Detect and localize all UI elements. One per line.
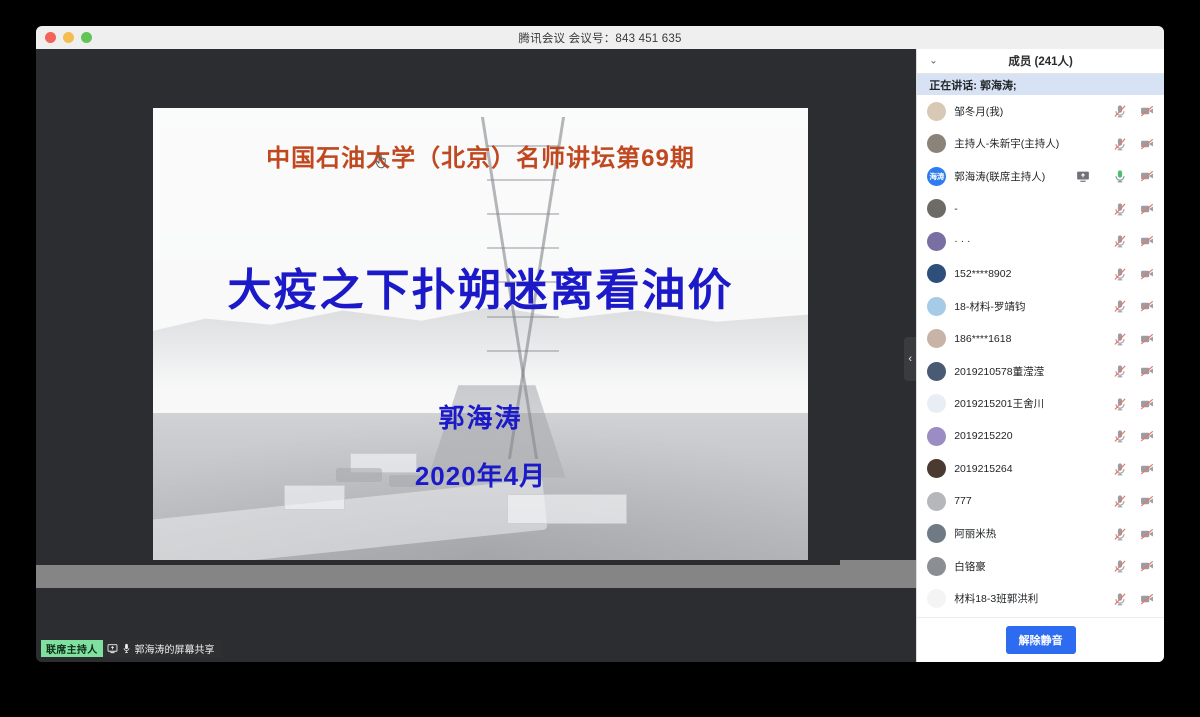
share-owner-label: 郭海涛的屏幕共享	[135, 641, 215, 656]
avatar	[927, 362, 946, 381]
participant-name: 186****1618	[954, 333, 1105, 345]
participant-name: · · ·	[954, 235, 1105, 247]
participant-row[interactable]: -	[917, 193, 1164, 226]
collapse-panel-handle[interactable]: ‹	[904, 337, 916, 381]
camera-off-icon[interactable]	[1140, 364, 1154, 378]
participant-status-icons	[1113, 397, 1154, 411]
participant-row[interactable]: 2019215220	[917, 420, 1164, 453]
camera-off-icon[interactable]	[1140, 234, 1154, 248]
participant-name: -	[954, 203, 1105, 215]
participant-status-icons	[1076, 169, 1154, 183]
participant-name: 材料18-3班郭洪利	[954, 591, 1105, 606]
avatar	[927, 297, 946, 316]
avatar-initials: 海涛	[927, 167, 946, 186]
window-body: 中国石油大学（北京）名师讲坛第69期 大疫之下扑朔迷离看油价 郭海涛 2020年…	[36, 49, 1164, 662]
participant-row[interactable]: 邹冬月(我)	[917, 95, 1164, 128]
participant-name: 阿丽米热	[954, 526, 1105, 541]
chevron-left-icon: ‹	[908, 354, 912, 365]
chevron-down-icon[interactable]: ⌄	[929, 56, 937, 67]
microphone-muted-icon[interactable]	[1113, 494, 1127, 508]
microphone-muted-icon[interactable]	[1113, 332, 1127, 346]
participant-row[interactable]: 777	[917, 485, 1164, 518]
meeting-window: 腾讯会议 会议号：843 451 635	[36, 26, 1164, 662]
zoom-button-icon[interactable]	[81, 32, 92, 43]
participant-status-icons	[1113, 267, 1154, 281]
window-title: 腾讯会议 会议号：843 451 635	[36, 30, 1164, 46]
participant-name: 郭海涛(联席主持人)	[954, 169, 1068, 184]
microphone-muted-icon[interactable]	[1113, 364, 1127, 378]
participant-row[interactable]: 阿丽米热	[917, 518, 1164, 551]
participant-row[interactable]: · · ·	[917, 225, 1164, 258]
participant-status-icons	[1113, 202, 1154, 216]
toolbar-notch	[36, 560, 840, 565]
participant-status-icons	[1113, 234, 1154, 248]
microphone-muted-icon[interactable]	[1113, 202, 1127, 216]
participant-name: 2019215264	[954, 463, 1105, 475]
avatar	[927, 199, 946, 218]
role-badge-label: 联席主持人	[41, 640, 103, 657]
microphone-muted-icon[interactable]	[1113, 462, 1127, 476]
slide-author-text: 郭海涛	[153, 398, 808, 435]
avatar	[927, 232, 946, 251]
participants-list[interactable]: 邹冬月(我)主持人-朱新宇(主持人)海涛郭海涛(联席主持人)-· · ·152*…	[917, 95, 1164, 617]
screen-sharing-indicator-icon	[1076, 169, 1090, 183]
avatar	[927, 459, 946, 478]
participant-status-icons	[1113, 462, 1154, 476]
camera-off-icon[interactable]	[1140, 332, 1154, 346]
avatar	[927, 492, 946, 511]
screen-share-badge: 联席主持人 郭海涛的屏幕共享	[41, 640, 222, 657]
microphone-muted-icon[interactable]	[1113, 397, 1127, 411]
camera-off-icon[interactable]	[1140, 137, 1154, 151]
share-info: 郭海涛的屏幕共享	[103, 640, 222, 657]
participant-status-icons	[1113, 137, 1154, 151]
screen: 腾讯会议 会议号：843 451 635	[0, 0, 1200, 717]
minimize-button-icon[interactable]	[63, 32, 74, 43]
slide-title-text: 大疫之下扑朔迷离看油价	[153, 254, 808, 318]
slide-background-photo	[153, 108, 808, 570]
participant-status-icons	[1113, 494, 1154, 508]
microphone-muted-icon[interactable]	[1113, 527, 1127, 541]
slide-date-text: 2020年4月	[153, 456, 808, 493]
participant-status-icons	[1113, 364, 1154, 378]
avatar	[927, 329, 946, 348]
participant-status-icons	[1113, 104, 1154, 118]
camera-off-icon[interactable]	[1140, 299, 1154, 313]
microphone-muted-icon[interactable]	[1113, 137, 1127, 151]
participant-name: 邹冬月(我)	[954, 104, 1105, 119]
slide-header-text: 中国石油大学（北京）名师讲坛第69期	[153, 138, 808, 173]
participants-panel-header: ⌄ 成员 (241人)	[917, 49, 1164, 74]
microphone-icon	[122, 643, 131, 654]
microphone-muted-icon[interactable]	[1113, 267, 1127, 281]
camera-off-icon[interactable]	[1140, 429, 1154, 443]
avatar	[927, 394, 946, 413]
traffic-lights	[45, 26, 92, 49]
participants-panel-footer: 解除静音	[917, 617, 1164, 662]
participant-status-icons	[1113, 527, 1154, 541]
camera-off-icon[interactable]	[1140, 462, 1154, 476]
shared-screen-stage: 中国石油大学（北京）名师讲坛第69期 大疫之下扑朔迷离看油价 郭海涛 2020年…	[36, 49, 916, 662]
participant-status-icons	[1113, 332, 1154, 346]
camera-off-icon[interactable]	[1140, 592, 1154, 606]
unmute-button[interactable]: 解除静音	[1006, 626, 1076, 654]
participant-row[interactable]: 主持人-朱新宇(主持人)	[917, 128, 1164, 161]
participant-status-icons	[1113, 299, 1154, 313]
participant-name: 152****8902	[954, 268, 1105, 280]
camera-off-icon[interactable]	[1140, 104, 1154, 118]
participant-name: 主持人-朱新宇(主持人)	[954, 136, 1105, 151]
participant-name: 2019210578董滢滢	[954, 364, 1105, 379]
avatar: 海涛	[927, 167, 946, 186]
participant-row[interactable]: 2019210578董滢滢	[917, 355, 1164, 388]
screen-share-icon	[107, 643, 118, 654]
now-speaking-banner: 正在讲话: 郭海涛;	[917, 74, 1164, 95]
camera-off-icon[interactable]	[1140, 527, 1154, 541]
participant-row[interactable]: 186****1618	[917, 323, 1164, 356]
participant-name: 777	[954, 495, 1105, 507]
avatar	[927, 264, 946, 283]
camera-off-icon[interactable]	[1140, 202, 1154, 216]
microphone-muted-icon[interactable]	[1113, 299, 1127, 313]
participant-status-icons	[1113, 559, 1154, 573]
avatar	[927, 524, 946, 543]
avatar	[927, 589, 946, 608]
participant-name: 白铬豪	[954, 559, 1105, 574]
camera-off-icon[interactable]	[1140, 494, 1154, 508]
camera-off-icon[interactable]	[1140, 559, 1154, 573]
participant-row[interactable]: 海涛郭海涛(联席主持人)	[917, 160, 1164, 193]
participant-row[interactable]: 152****8902	[917, 258, 1164, 291]
participant-name: 2019215201王舍川	[954, 396, 1105, 411]
participant-row[interactable]: 材料18-3班郭洪利	[917, 583, 1164, 616]
avatar	[927, 557, 946, 576]
close-button-icon[interactable]	[45, 32, 56, 43]
participant-row[interactable]: 2019215264	[917, 453, 1164, 486]
participant-status-icons	[1113, 592, 1154, 606]
avatar	[927, 134, 946, 153]
microphone-muted-icon[interactable]	[1113, 429, 1127, 443]
participants-panel: ⌄ 成员 (241人) 正在讲话: 郭海涛; 邹冬月(我)主持人-朱新宇(主持人…	[916, 49, 1164, 662]
shed-shape	[507, 494, 627, 524]
participant-name: 2019215220	[954, 430, 1105, 442]
window-titlebar: 腾讯会议 会议号：843 451 635	[36, 26, 1164, 50]
microphone-muted-icon[interactable]	[1113, 559, 1127, 573]
camera-off-icon[interactable]	[1140, 267, 1154, 281]
participant-status-icons	[1113, 429, 1154, 443]
shared-screen-toolbar	[36, 560, 916, 588]
camera-off-icon[interactable]	[1140, 169, 1154, 183]
participant-row[interactable]: 白铬豪	[917, 550, 1164, 583]
microphone-muted-icon[interactable]	[1113, 592, 1127, 606]
participants-count-title: 成员 (241人)	[1008, 53, 1073, 69]
participant-row[interactable]: 18-材料-罗靖钧	[917, 290, 1164, 323]
camera-off-icon[interactable]	[1140, 397, 1154, 411]
avatar	[927, 427, 946, 446]
avatar	[927, 102, 946, 121]
microphone-on-icon[interactable]	[1113, 169, 1127, 183]
microphone-muted-icon[interactable]	[1113, 104, 1127, 118]
participant-name: 18-材料-罗靖钧	[954, 299, 1105, 314]
microphone-muted-icon[interactable]	[1113, 234, 1127, 248]
participant-row[interactable]: 2019215201王舍川	[917, 388, 1164, 421]
presentation-slide: 中国石油大学（北京）名师讲坛第69期 大疫之下扑朔迷离看油价 郭海涛 2020年…	[153, 108, 808, 570]
